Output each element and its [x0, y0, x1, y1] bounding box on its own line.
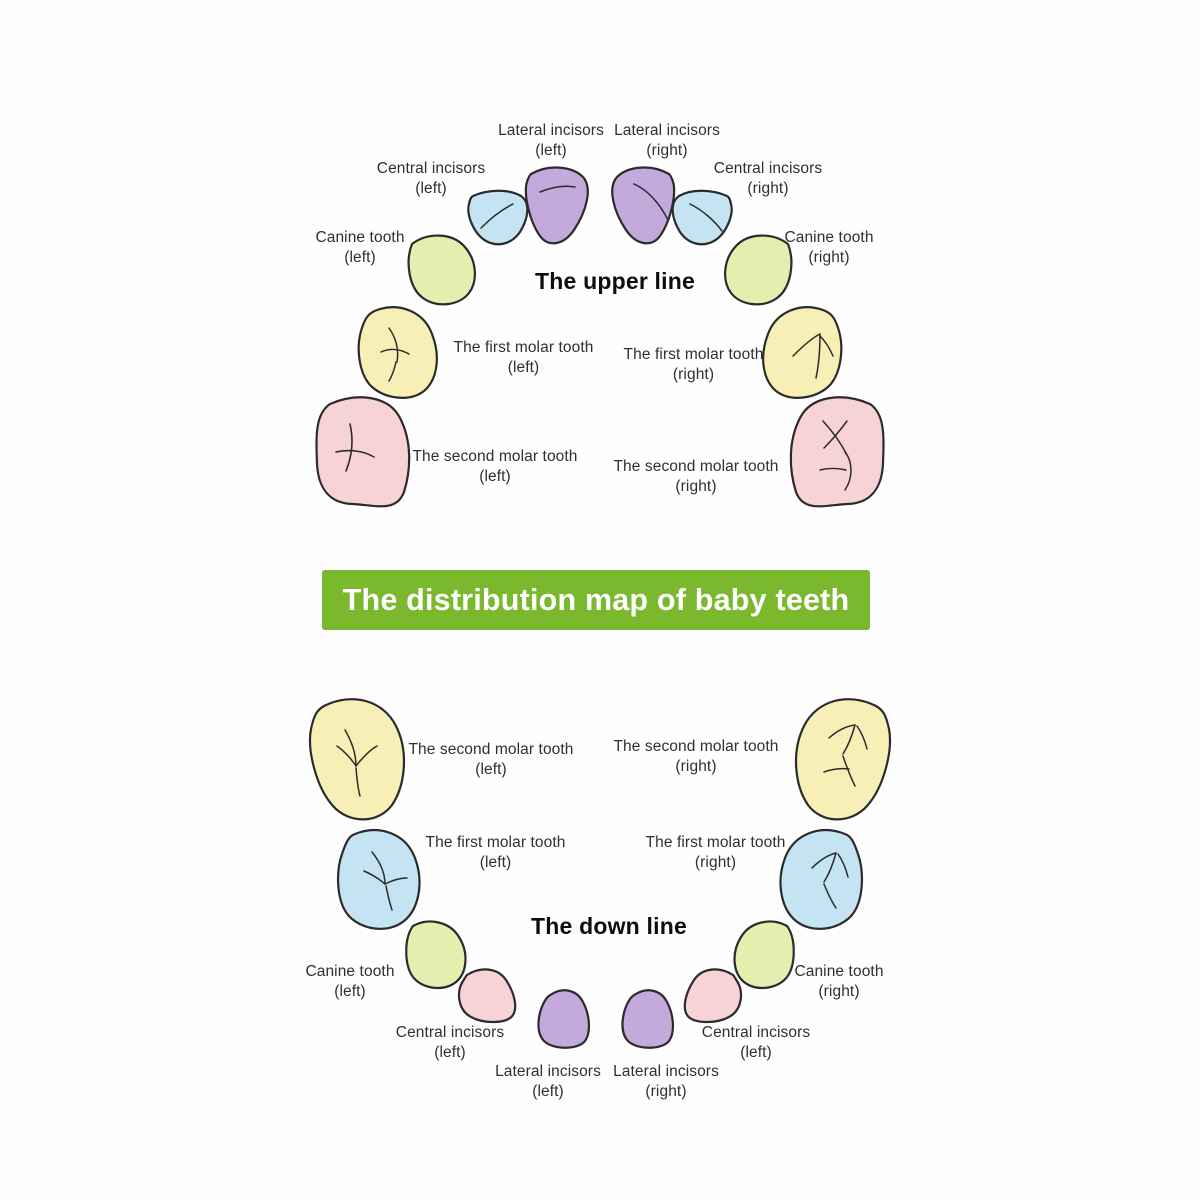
- label-upper-central-incisor-left: Central incisors (left): [372, 159, 490, 199]
- label-side: (left): [412, 467, 578, 487]
- label-name: The first molar tooth: [624, 346, 764, 363]
- tooth-upper-first-molar-left[interactable]: [359, 307, 437, 398]
- label-side: (left): [310, 248, 410, 268]
- label-side: (left): [450, 358, 597, 378]
- label-side: (left): [697, 1043, 815, 1063]
- label-side: (left): [492, 141, 610, 161]
- tooth-upper-second-molar-right[interactable]: [791, 397, 884, 506]
- label-lower-first-molar-left: The first molar tooth (left): [422, 833, 569, 873]
- tooth-upper-central-incisor-left[interactable]: [468, 191, 527, 244]
- label-side: (left): [372, 179, 490, 199]
- label-lower-canine-left: Canine tooth (left): [300, 962, 400, 1002]
- label-upper-central-incisor-right: Central incisors (right): [709, 159, 827, 199]
- label-lower-central-incisor-left: Central incisors (left): [391, 1023, 509, 1063]
- label-name: The first molar tooth: [646, 834, 786, 851]
- label-side: (left): [489, 1082, 607, 1102]
- label-side: (left): [300, 982, 400, 1002]
- label-name: Canine tooth: [784, 229, 873, 246]
- label-side: (right): [613, 477, 779, 497]
- banner-title: The distribution map of baby teeth: [343, 583, 850, 618]
- label-name: Central incisors: [702, 1024, 810, 1041]
- label-name: Canine tooth: [305, 963, 394, 980]
- label-side: (right): [620, 365, 767, 385]
- tooth-lower-lateral-incisor-right[interactable]: [622, 990, 672, 1047]
- tooth-lower-first-molar-left[interactable]: [338, 830, 419, 929]
- label-name: The second molar tooth: [613, 458, 778, 475]
- label-name: Lateral incisors: [614, 122, 720, 139]
- tooth-lower-canine-right[interactable]: [735, 922, 794, 989]
- tooth-upper-second-molar-left[interactable]: [317, 397, 410, 506]
- tooth-upper-lateral-incisor-right[interactable]: [612, 168, 674, 244]
- label-name: Central incisors: [714, 160, 822, 177]
- label-side: (left): [408, 760, 574, 780]
- label-upper-canine-right: Canine tooth (right): [779, 228, 879, 268]
- label-name: The second molar tooth: [408, 741, 573, 758]
- label-name: The first molar tooth: [426, 834, 566, 851]
- label-upper-lateral-incisor-left: Lateral incisors (left): [492, 121, 610, 161]
- label-upper-first-molar-right: The first molar tooth (right): [620, 345, 767, 385]
- label-name: Canine tooth: [794, 963, 883, 980]
- tooth-lower-central-incisor-left[interactable]: [459, 969, 515, 1022]
- label-lower-second-molar-left: The second molar tooth (left): [408, 740, 574, 780]
- label-name: Lateral incisors: [498, 122, 604, 139]
- label-upper-canine-left: Canine tooth (left): [310, 228, 410, 268]
- label-side: (right): [642, 853, 789, 873]
- tooth-upper-canine-left[interactable]: [409, 236, 475, 305]
- tooth-lower-first-molar-right[interactable]: [781, 830, 862, 929]
- title-banner: The distribution map of baby teeth: [322, 570, 870, 630]
- label-lower-lateral-incisor-left: Lateral incisors (left): [489, 1062, 607, 1102]
- tooth-lower-canine-left[interactable]: [406, 922, 465, 989]
- label-upper-first-molar-left: The first molar tooth (left): [450, 338, 597, 378]
- label-upper-second-molar-left: The second molar tooth (left): [412, 447, 578, 487]
- label-side: (left): [422, 853, 569, 873]
- label-name: The first molar tooth: [454, 339, 594, 356]
- label-name: The second molar tooth: [412, 448, 577, 465]
- label-lower-canine-right: Canine tooth (right): [789, 962, 889, 1002]
- tooth-upper-central-incisor-right[interactable]: [673, 191, 732, 244]
- label-name: Lateral incisors: [613, 1063, 719, 1080]
- label-side: (right): [608, 141, 726, 161]
- label-side: (right): [607, 1082, 725, 1102]
- label-lower-second-molar-right: The second molar tooth (right): [613, 737, 779, 777]
- tooth-lower-central-incisor-right[interactable]: [685, 969, 741, 1022]
- label-name: Central incisors: [396, 1024, 504, 1041]
- label-upper-second-molar-right: The second molar tooth (right): [613, 457, 779, 497]
- label-lower-lateral-incisor-right: Lateral incisors (right): [607, 1062, 725, 1102]
- baby-teeth-distribution-diagram: Lateral incisors (left) Lateral incisors…: [0, 0, 1200, 1200]
- label-name: Lateral incisors: [495, 1063, 601, 1080]
- label-upper-lateral-incisor-right: Lateral incisors (right): [608, 121, 726, 161]
- tooth-upper-first-molar-right[interactable]: [763, 307, 841, 398]
- upper-line-caption: The upper line: [535, 268, 695, 295]
- down-line-caption: The down line: [531, 913, 687, 940]
- tooth-lower-second-molar-right[interactable]: [796, 699, 890, 819]
- label-name: Canine tooth: [315, 229, 404, 246]
- label-lower-central-incisor-right: Central incisors (left): [697, 1023, 815, 1063]
- tooth-lower-lateral-incisor-left[interactable]: [538, 990, 588, 1047]
- label-lower-first-molar-right: The first molar tooth (right): [642, 833, 789, 873]
- label-side: (right): [613, 757, 779, 777]
- label-side: (right): [709, 179, 827, 199]
- label-name: Central incisors: [377, 160, 485, 177]
- label-side: (right): [789, 982, 889, 1002]
- tooth-upper-lateral-incisor-left[interactable]: [526, 168, 588, 244]
- label-side: (right): [779, 248, 879, 268]
- label-side: (left): [391, 1043, 509, 1063]
- label-name: The second molar tooth: [613, 738, 778, 755]
- tooth-lower-second-molar-left[interactable]: [310, 699, 404, 819]
